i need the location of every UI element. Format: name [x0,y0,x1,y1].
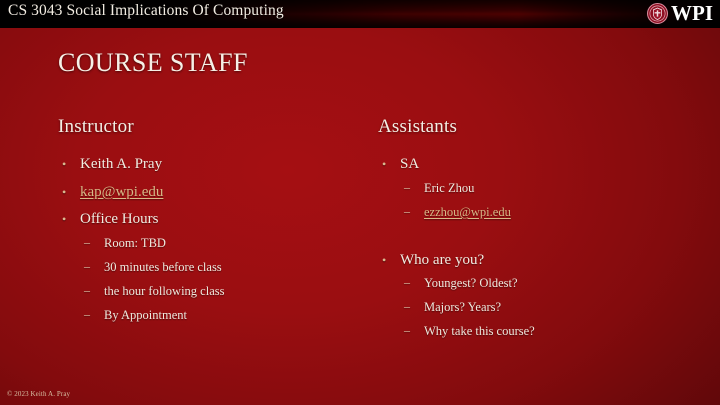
bullet-item: •Office Hours–Room: TBD–30 minutes befor… [58,211,358,323]
bullet-item: •SA–Eric Zhou–ezzhou@wpi.edu [378,156,678,220]
bullet-item: •Who are you?–Youngest? Oldest?–Majors? … [378,252,678,340]
sub-bullet-text: Majors? Years? [424,300,501,314]
sub-bullet-list: –Eric Zhou–ezzhou@wpi.edu [400,181,678,220]
sub-bullet-marker-icon: – [404,181,410,194]
sub-bullet-item: –Room: TBD [80,236,358,251]
sub-bullet-item: –the hour following class [80,284,358,299]
bullet-text: Who are you? [400,252,484,268]
column-heading: Assistants [378,116,678,138]
sub-bullet-text: By Appointment [104,308,187,322]
bullet-marker-icon: • [62,184,66,200]
sub-bullet-item: –Eric Zhou [400,181,678,196]
footer-copyright: © 2023 Keith A. Pray [7,390,70,398]
sub-bullet-list: –Room: TBD–30 minutes before class–the h… [80,236,358,323]
bullet-text: Keith A. Pray [80,156,162,172]
bullet-list-instructor: •Keith A. Pray•kap@wpi.edu•Office Hours–… [58,156,358,323]
sub-bullet-text: 30 minutes before class [104,260,222,274]
sub-bullet-text: Room: TBD [104,236,166,250]
sub-bullet-text: the hour following class [104,284,224,298]
sub-bullet-marker-icon: – [84,260,90,273]
column-instructor: Instructor •Keith A. Pray•kap@wpi.edu•Of… [58,116,358,333]
sub-bullet-item: –30 minutes before class [80,260,358,275]
page-title: COURSE STAFF [58,48,248,78]
wpi-wordmark: WPI [671,3,713,24]
bullet-marker-icon: • [382,252,386,268]
sub-bullet-item: –Why take this course? [400,324,678,339]
bullet-list-assistants: •SA–Eric Zhou–ezzhou@wpi.edu•Who are you… [378,156,678,339]
bullet-item: •Keith A. Pray [58,156,358,174]
sub-bullet-item: –Majors? Years? [400,300,678,315]
group-spacer [378,230,678,252]
bullet-text: SA [400,156,419,172]
sub-bullet-item: –Youngest? Oldest? [400,276,678,291]
presentation-slide: CS 3043 Social Implications Of Computing… [0,0,720,405]
sub-bullet-marker-icon: – [404,300,410,313]
bullet-marker-icon: • [382,156,386,172]
sub-bullet-marker-icon: – [404,205,410,218]
sub-bullet-item: –ezzhou@wpi.edu [400,205,678,220]
column-assistants: Assistants •SA–Eric Zhou–ezzhou@wpi.edu•… [378,116,678,349]
wpi-seal-icon [647,3,668,24]
sub-bullet-text: Youngest? Oldest? [424,276,518,290]
sub-bullet-marker-icon: – [84,284,90,297]
sub-bullet-marker-icon: – [84,308,90,321]
course-title: CS 3043 Social Implications Of Computing [8,2,284,20]
sub-bullet-text: Why take this course? [424,324,535,338]
bullet-marker-icon: • [62,156,66,172]
sub-bullet-item: –By Appointment [80,308,358,323]
sub-bullet-list: –Youngest? Oldest?–Majors? Years?–Why ta… [400,276,678,339]
email-link[interactable]: ezzhou@wpi.edu [424,205,511,219]
sub-bullet-marker-icon: – [84,236,90,249]
bullet-marker-icon: • [62,211,66,227]
bullet-text: Office Hours [80,211,158,227]
email-link[interactable]: kap@wpi.edu [80,184,163,200]
sub-bullet-marker-icon: – [404,324,410,337]
bullet-item: •kap@wpi.edu [58,184,358,202]
sub-bullet-marker-icon: – [404,276,410,289]
wpi-logo: WPI [647,1,713,26]
slide-header-bar: CS 3043 Social Implications Of Computing… [0,0,720,28]
sub-bullet-text: Eric Zhou [424,181,474,195]
column-heading: Instructor [58,116,358,138]
